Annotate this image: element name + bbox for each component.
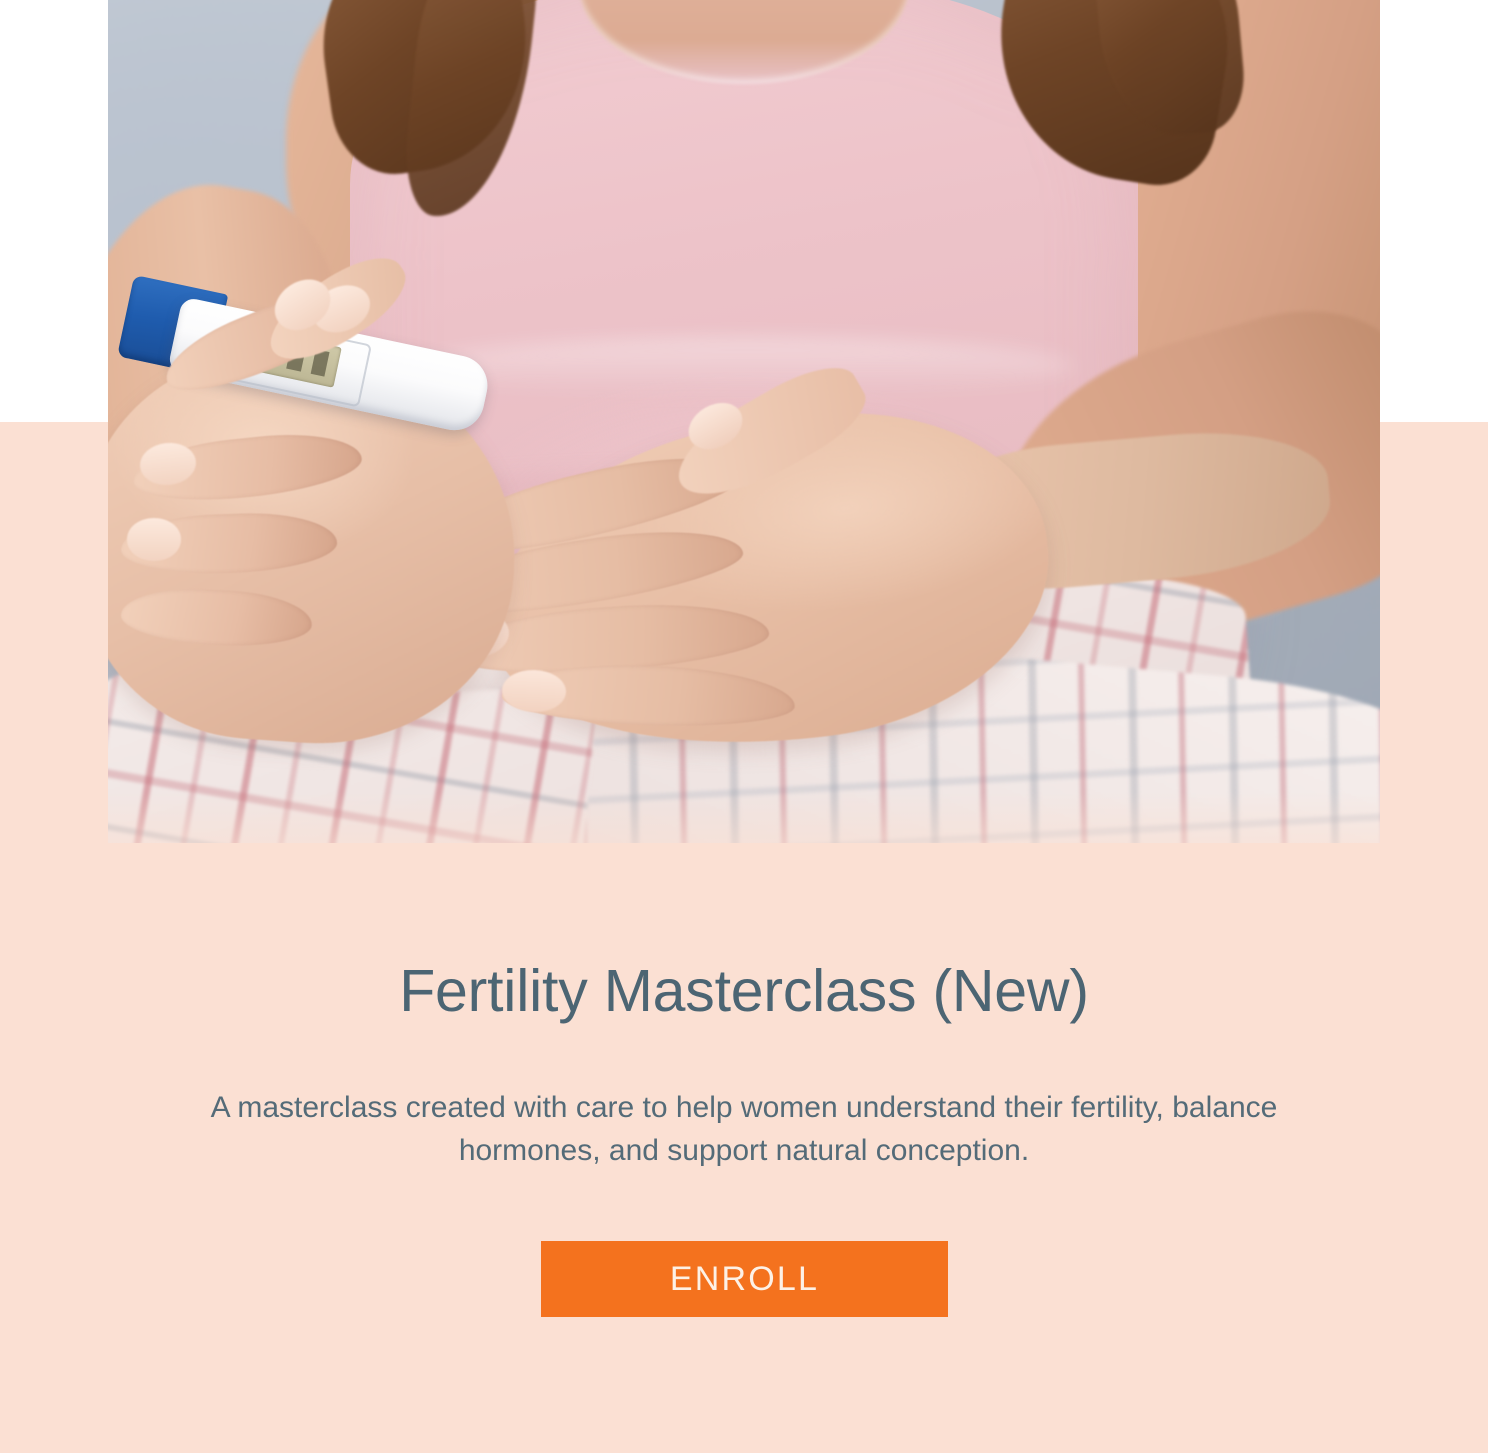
- page-title: Fertility Masterclass (New): [0, 962, 1488, 1021]
- hero-image: [108, 0, 1380, 843]
- enroll-button[interactable]: ENROLL: [541, 1241, 948, 1317]
- fingernail: [127, 518, 180, 560]
- fabric-fold: [413, 337, 1074, 396]
- promo-description: A masterclass created with care to help …: [144, 1087, 1344, 1172]
- photo-bottom-fade: [108, 792, 1380, 843]
